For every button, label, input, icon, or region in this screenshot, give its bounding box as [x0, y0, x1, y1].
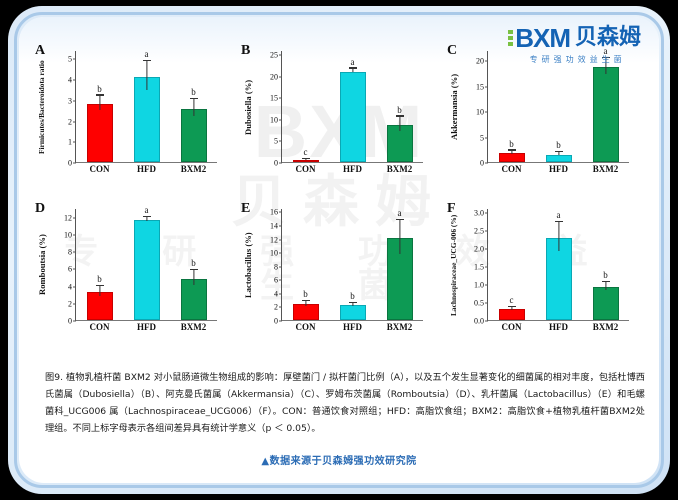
x-axis-labels-e: CONHFDBXM2: [282, 320, 423, 332]
bar-item[interactable]: a: [329, 51, 376, 162]
plot-area-f: 0.00.51.01.52.02.53.0cabCONHFDBXM2: [487, 209, 629, 321]
y-tick-label: 0: [274, 159, 282, 168]
x-tick-label: CON: [282, 322, 329, 332]
significance-letter: b: [191, 258, 196, 268]
error-bar-cap: [143, 60, 151, 61]
error-bar-cap: [508, 149, 516, 150]
brand-logo-chinese: 贝森姆: [575, 27, 641, 49]
y-axis-label-e: Lactobacillus (%): [243, 209, 253, 321]
plot-area-c: 05101520bbaCONHFDBXM2: [487, 51, 629, 163]
y-tick-label: 2.5: [474, 226, 488, 235]
y-tick-label: 14: [270, 221, 282, 230]
y-tick-label: 15: [270, 94, 282, 103]
error-bar: [193, 270, 194, 285]
error-bar: [511, 151, 512, 155]
error-bar: [99, 96, 100, 111]
y-tick-label: 2.0: [474, 244, 488, 253]
bar-bxm2[interactable]: b: [387, 125, 413, 162]
significance-letter: b: [97, 84, 102, 94]
x-tick-label: HFD: [329, 164, 376, 174]
footer-source-text: ▲数据来源于贝森姆强功效研究院: [261, 456, 416, 467]
error-bar-cap: [349, 67, 357, 68]
x-axis-labels-b: CONHFDBXM2: [282, 162, 423, 174]
bar-hfd[interactable]: a: [340, 72, 366, 162]
bar-item[interactable]: b: [282, 209, 329, 320]
error-bar-cap: [555, 221, 563, 222]
error-bar-cap: [396, 115, 404, 116]
significance-letter: b: [97, 274, 102, 284]
bar-group-e: bba: [282, 209, 423, 320]
y-tick-label: 2: [68, 117, 76, 126]
y-tick-label: 4: [68, 76, 76, 85]
panel-f: FLachnospiraceae_UCG-006 (%)0.00.51.01.5…: [441, 197, 647, 355]
error-bar: [399, 220, 400, 254]
bar-con[interactable]: b: [87, 104, 113, 162]
y-axis-label-a: Firmicutes/Bacteroidota ratio: [37, 51, 46, 163]
x-tick-label: BXM2: [582, 322, 629, 332]
figure-panels: AFirmicutes/Bacteroidota ratio012345babC…: [29, 39, 649, 359]
bar-hfd[interactable]: b: [546, 155, 572, 162]
plot-area-d: 024681012babCONHFDBXM2: [75, 209, 217, 321]
y-tick-label: 0: [480, 159, 488, 168]
y-tick-label: 12: [270, 235, 282, 244]
y-tick-label: 8: [274, 262, 282, 271]
y-tick-label: 3: [68, 96, 76, 105]
x-tick-label: BXM2: [376, 322, 423, 332]
y-tick-label: 1: [68, 138, 76, 147]
bar-con[interactable]: c: [499, 309, 525, 320]
error-bar: [352, 69, 353, 73]
footer: ▲数据来源于贝森姆强功效研究院: [19, 451, 659, 469]
bar-item[interactable]: a: [582, 51, 629, 162]
plot-area-e: 0246810121416bbaCONHFDBXM2: [281, 209, 423, 321]
error-bar: [605, 282, 606, 291]
bar-item[interactable]: c: [488, 209, 535, 320]
bar-item[interactable]: c: [282, 51, 329, 162]
significance-letter: a: [557, 210, 561, 220]
significance-letter: c: [510, 295, 514, 305]
bar-con[interactable]: b: [499, 153, 525, 162]
panel-e: ELactobacillus (%)0246810121416bbaCONHFD…: [235, 197, 441, 355]
error-bar-cap: [349, 302, 357, 303]
panel-a: AFirmicutes/Bacteroidota ratio012345babC…: [29, 39, 235, 197]
error-bar: [511, 307, 512, 310]
error-bar: [99, 286, 100, 295]
y-axis-label-c: Akkermansia (%): [449, 51, 459, 163]
error-bar: [558, 222, 559, 252]
figure-caption: 图9. 植物乳植杆菌 BXM2 对小鼠肠道微生物组成的影响：厚壁菌门 / 拟杆菌…: [45, 369, 645, 437]
significance-letter: a: [398, 208, 402, 218]
y-tick-label: 10: [270, 249, 282, 258]
y-tick-label: 6: [274, 276, 282, 285]
y-tick-label: 4: [274, 289, 282, 298]
error-bar-cap: [602, 281, 610, 282]
y-tick-label: 0: [274, 317, 282, 326]
x-tick-label: HFD: [123, 164, 170, 174]
bar-item[interactable]: a: [376, 209, 423, 320]
brand-logo-subtitle: 专研强功效益生菌: [530, 54, 626, 65]
y-axis-label-d: Romboutsia (%): [37, 209, 47, 321]
significance-letter: b: [603, 270, 608, 280]
y-tick-label: 5: [68, 55, 76, 64]
error-bar-cap: [396, 219, 404, 220]
y-tick-label: 5: [274, 137, 282, 146]
y-tick-label: 16: [270, 208, 282, 217]
y-tick-label: 10: [476, 108, 488, 117]
y-tick-label: 6: [68, 265, 76, 274]
y-tick-label: 2: [274, 303, 282, 312]
x-axis-labels-d: CONHFDBXM2: [76, 320, 217, 332]
slide-root: BXM 贝森姆 专 研 强 功 效 益 生 菌 BXM 贝森姆 专研强功效益生菌…: [0, 0, 678, 500]
bar-bxm2[interactable]: a: [387, 238, 413, 320]
x-tick-label: CON: [76, 164, 123, 174]
x-tick-label: BXM2: [170, 164, 217, 174]
bar-item[interactable]: b: [170, 209, 217, 320]
bar-bxm2[interactable]: b: [181, 109, 207, 162]
bar-hfd[interactable]: a: [134, 220, 160, 320]
bar-group-c: bba: [488, 51, 629, 162]
x-tick-label: BXM2: [170, 322, 217, 332]
bar-item[interactable]: b: [376, 51, 423, 162]
bar-bxm2[interactable]: b: [181, 279, 207, 320]
error-bar-cap: [302, 300, 310, 301]
y-tick-label: 8: [68, 248, 76, 257]
x-tick-label: HFD: [123, 322, 170, 332]
error-bar: [305, 159, 306, 160]
significance-letter: b: [509, 139, 514, 149]
error-bar-cap: [555, 151, 563, 152]
y-tick-label: 20: [476, 57, 488, 66]
y-tick-label: 4: [68, 282, 76, 291]
bar-bxm2[interactable]: b: [593, 287, 619, 320]
x-axis-labels-a: CONHFDBXM2: [76, 162, 217, 174]
bar-item[interactable]: b: [329, 209, 376, 320]
bar-item[interactable]: a: [123, 51, 170, 162]
x-axis-labels-c: CONHFDBXM2: [488, 162, 629, 174]
bar-group-a: bab: [76, 51, 217, 162]
x-tick-label: CON: [76, 322, 123, 332]
x-tick-label: HFD: [535, 322, 582, 332]
y-tick-label: 1.0: [474, 280, 488, 289]
y-tick-label: 25: [270, 51, 282, 60]
significance-letter: b: [397, 105, 402, 115]
bar-item[interactable]: b: [535, 51, 582, 162]
error-bar: [558, 152, 559, 155]
panel-d: DRomboutsia (%)024681012babCONHFDBXM2: [29, 197, 235, 355]
error-bar: [146, 61, 147, 89]
x-tick-label: CON: [488, 322, 535, 332]
significance-letter: a: [351, 57, 355, 67]
three-green-dots-icon: [508, 30, 513, 46]
significance-letter: c: [304, 147, 308, 157]
y-tick-label: 0: [68, 317, 76, 326]
significance-letter: a: [145, 49, 149, 59]
x-tick-label: HFD: [329, 322, 376, 332]
x-axis-labels-f: CONHFDBXM2: [488, 320, 629, 332]
bar-item[interactable]: b: [76, 51, 123, 162]
error-bar: [146, 217, 147, 221]
significance-letter: b: [556, 140, 561, 150]
bar-item[interactable]: b: [76, 209, 123, 320]
bar-con[interactable]: b: [293, 304, 319, 320]
error-bar-cap: [96, 94, 104, 95]
plot-area-a: 012345babCONHFDBXM2: [75, 51, 217, 163]
y-tick-label: 15: [476, 82, 488, 91]
bar-hfd[interactable]: b: [340, 305, 366, 320]
error-bar-cap: [508, 306, 516, 307]
bar-hfd[interactable]: a: [134, 77, 160, 162]
bar-item[interactable]: a: [123, 209, 170, 320]
brand-logo: BXM 贝森姆 专研强功效益生菌: [508, 25, 641, 65]
y-tick-label: 0.5: [474, 298, 488, 307]
error-bar: [305, 301, 306, 306]
error-bar-cap: [96, 285, 104, 286]
x-tick-label: BXM2: [376, 164, 423, 174]
x-tick-label: HFD: [535, 164, 582, 174]
y-tick-label: 5: [480, 133, 488, 142]
x-tick-label: BXM2: [582, 164, 629, 174]
bar-item[interactable]: b: [582, 209, 629, 320]
bar-item[interactable]: b: [170, 51, 217, 162]
y-tick-label: 0.0: [474, 317, 488, 326]
error-bar-cap: [190, 98, 198, 99]
y-tick-label: 10: [64, 230, 76, 239]
content-card: BXM 贝森姆 专 研 强 功 效 益 生 菌 BXM 贝森姆 专研强功效益生菌…: [19, 17, 659, 483]
bar-group-b: cab: [282, 51, 423, 162]
bar-group-f: cab: [488, 209, 629, 320]
brand-logo-mark: BXM: [515, 25, 570, 51]
y-tick-label: 3.0: [474, 208, 488, 217]
y-tick-label: 2: [68, 299, 76, 308]
y-axis-label-f: Lachnospiraceae_UCG-006 (%): [449, 209, 458, 321]
error-bar: [352, 303, 353, 306]
bar-item[interactable]: a: [535, 209, 582, 320]
plot-area-b: 0510152025cabCONHFDBXM2: [281, 51, 423, 163]
brand-logo-row: BXM 贝森姆: [508, 25, 641, 51]
error-bar-cap: [302, 158, 310, 159]
significance-letter: b: [350, 291, 355, 301]
significance-letter: a: [145, 205, 149, 215]
error-bar-cap: [143, 216, 151, 217]
bar-group-d: bab: [76, 209, 217, 320]
significance-letter: b: [303, 289, 308, 299]
y-tick-label: 20: [270, 72, 282, 81]
y-tick-label: 1.5: [474, 262, 488, 271]
error-bar: [399, 117, 400, 132]
bar-con[interactable]: b: [87, 292, 113, 320]
y-tick-label: 12: [64, 213, 76, 222]
bar-bxm2[interactable]: a: [593, 67, 619, 162]
x-tick-label: CON: [282, 164, 329, 174]
significance-letter: b: [191, 87, 196, 97]
error-bar-cap: [190, 269, 198, 270]
y-tick-label: 0: [68, 159, 76, 168]
bar-item[interactable]: b: [488, 51, 535, 162]
y-tick-label: 10: [270, 115, 282, 124]
x-tick-label: CON: [488, 164, 535, 174]
panel-b: BDubosiella (%)0510152025cabCONHFDBXM2: [235, 39, 441, 197]
error-bar: [193, 99, 194, 116]
y-axis-label-b: Dubosiella (%): [243, 51, 253, 163]
bar-hfd[interactable]: a: [546, 238, 572, 320]
